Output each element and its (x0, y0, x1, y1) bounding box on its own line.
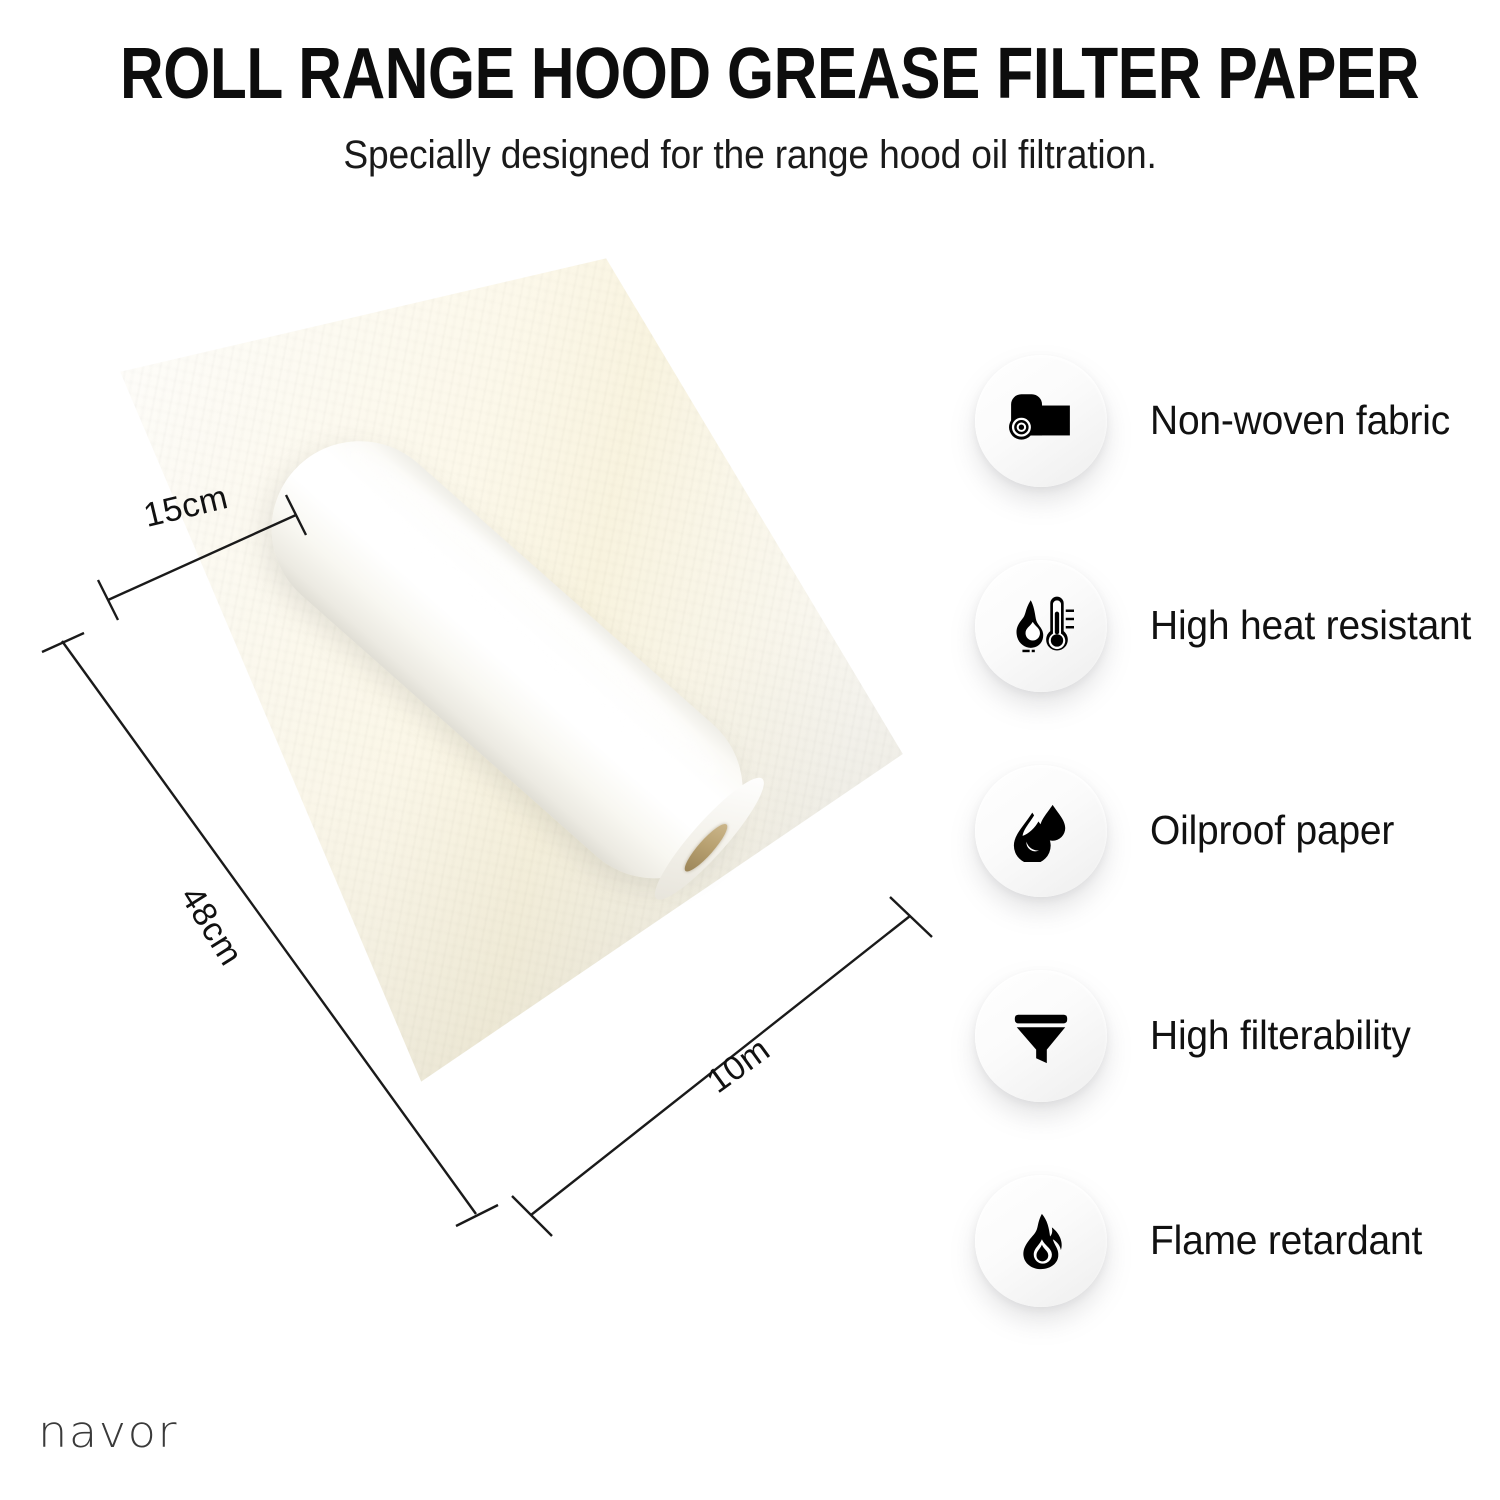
feature-label: Flame retardant (1150, 1217, 1422, 1264)
feature-badge (975, 765, 1107, 897)
feature-label: Non-woven fabric (1150, 397, 1450, 444)
flame-icon (1012, 1212, 1070, 1270)
feature-item-flame-retardant[interactable]: Flame retardant (975, 1138, 1500, 1343)
feature-item-non-woven-fabric[interactable]: Non-woven fabric (975, 318, 1500, 523)
feature-label: High heat resistant (1150, 602, 1471, 649)
feature-list: Non-woven fabric High heat resistant (975, 318, 1500, 1343)
funnel-filter-icon (1010, 1005, 1072, 1067)
fabric-roll-icon (1008, 388, 1074, 454)
oil-droplet-icon (1010, 800, 1072, 862)
feature-label: Oilproof paper (1150, 807, 1394, 854)
feature-badge (975, 1175, 1107, 1307)
brand-logo: navor (38, 1407, 178, 1458)
feature-item-high-filterability[interactable]: High filterability (975, 933, 1500, 1138)
dim-tick-10m-start (512, 1196, 552, 1236)
dimension-label-10m: 10m (700, 1030, 778, 1101)
feature-badge (975, 560, 1107, 692)
dim-tick-48cm-end (456, 1205, 498, 1226)
feature-item-oilproof-paper[interactable]: Oilproof paper (975, 728, 1500, 933)
feature-label: High filterability (1150, 1012, 1411, 1059)
flame-thermometer-icon (1008, 593, 1074, 659)
feature-badge (975, 970, 1107, 1102)
feature-item-high-heat-resistant[interactable]: High heat resistant (975, 523, 1500, 728)
feature-badge (975, 355, 1107, 487)
